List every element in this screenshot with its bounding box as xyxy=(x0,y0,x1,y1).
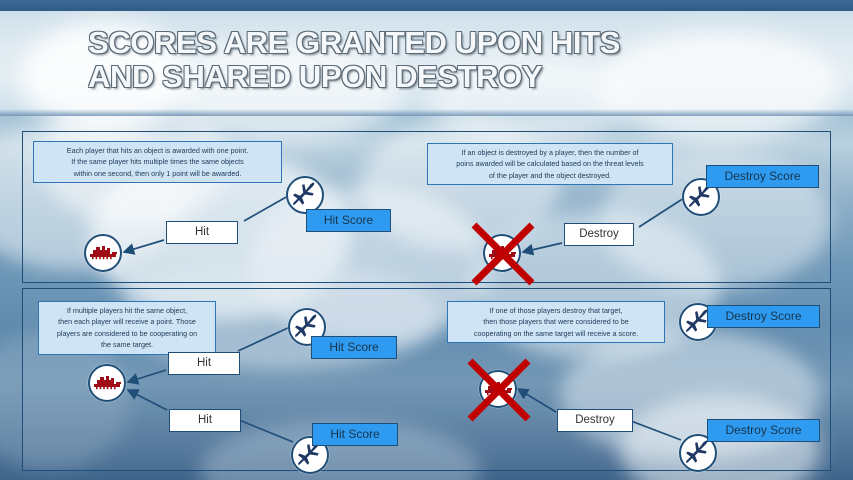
note-line: poins awarded will be calculated based o… xyxy=(432,158,668,169)
note-line: of the player and the object destroyed. xyxy=(432,170,668,181)
note-line: the same target. xyxy=(43,339,211,350)
note-line: If one of those players destroy that tar… xyxy=(452,305,660,316)
target-4[interactable] xyxy=(479,370,517,408)
action-destroy-2[interactable]: Destroy xyxy=(557,409,633,432)
target-1[interactable] xyxy=(84,234,122,272)
score-hit-1[interactable]: Hit Score xyxy=(306,209,391,232)
note-hit-rules: Each player that hits an object is award… xyxy=(33,141,282,183)
fighter-jet-icon xyxy=(683,439,713,467)
score-destroy-1[interactable]: Destroy Score xyxy=(706,165,819,188)
tank-icon xyxy=(483,381,513,397)
note-line: If multiple players hit the same object, xyxy=(43,305,211,316)
score-destroy-2[interactable]: Destroy Score xyxy=(707,305,820,328)
score-destroy-3[interactable]: Destroy Score xyxy=(707,419,820,442)
tank-icon xyxy=(88,245,118,261)
note-line: players are considered to be cooperating… xyxy=(43,328,211,339)
action-hit-3[interactable]: Hit xyxy=(169,409,241,432)
score-hit-2[interactable]: Hit Score xyxy=(311,336,397,359)
target-2[interactable] xyxy=(483,234,521,272)
note-line: Each player that hits an object is award… xyxy=(38,145,277,156)
note-line: then those players that were considered … xyxy=(452,316,660,327)
note-line: cooperating on the same target will rece… xyxy=(452,328,660,339)
slide-canvas: SCORES ARE GRANTED UPON HITS AND SHARED … xyxy=(0,0,853,480)
action-hit-2[interactable]: Hit xyxy=(168,352,240,375)
action-destroy-1[interactable]: Destroy xyxy=(564,223,634,246)
fighter-jet-icon xyxy=(290,181,320,209)
tank-icon xyxy=(487,245,517,261)
note-line: If an object is destroyed by a player, t… xyxy=(432,147,668,158)
tank-icon xyxy=(92,375,122,391)
note-multi-hit-rules: If multiple players hit the same object,… xyxy=(38,301,216,355)
score-hit-3[interactable]: Hit Score xyxy=(312,423,398,446)
connector-lines xyxy=(0,0,853,480)
note-line: then each player will receive a point. T… xyxy=(43,316,211,327)
target-3[interactable] xyxy=(88,364,126,402)
note-destroy-rules: If an object is destroyed by a player, t… xyxy=(427,143,673,185)
note-line: If the same player hits multiple times t… xyxy=(38,156,277,167)
note-line: within one second, then only 1 point wil… xyxy=(38,168,277,179)
action-hit-1[interactable]: Hit xyxy=(166,221,238,244)
note-shared-destroy-rules: If one of those players destroy that tar… xyxy=(447,301,665,343)
